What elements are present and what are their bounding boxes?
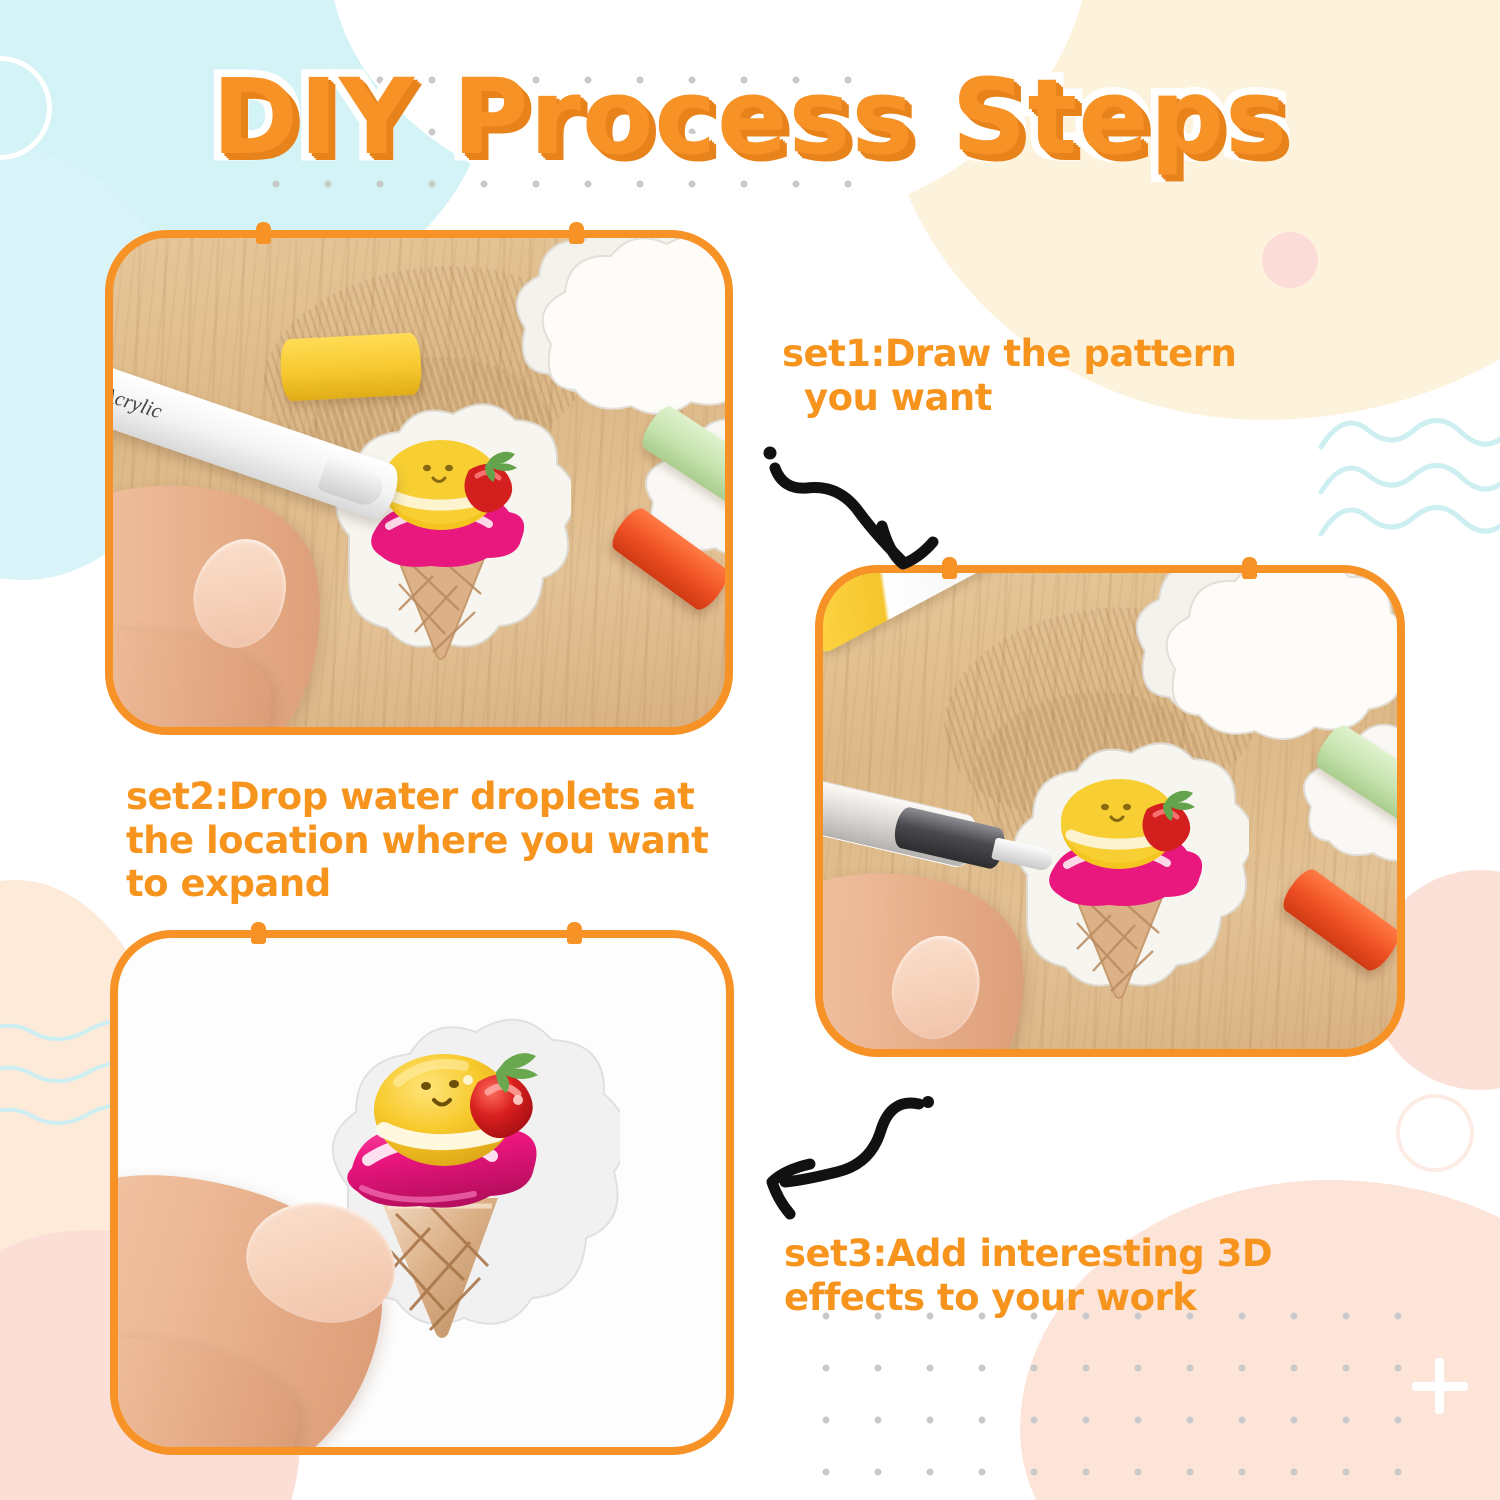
arrow-step2-to-step3-icon — [764, 1084, 969, 1224]
frame-pin-left-icon — [251, 922, 266, 944]
arrow-step1-to-step2-icon — [752, 434, 962, 599]
step-3-photo-frame — [110, 930, 734, 1455]
step-2-label-line1: set2:Drop water droplets at — [126, 775, 694, 818]
frame-pin-left-icon — [256, 222, 271, 244]
page-title: DIY Process Steps — [212, 56, 1288, 178]
acrylic-pen-tip-icon — [317, 455, 387, 509]
page-title-container: DIY Process Steps — [0, 56, 1500, 178]
step-1-photo: Acrylic — [113, 238, 725, 727]
pink-circle-outline-right — [1396, 1094, 1474, 1172]
step-2-label: set2:Drop water droplets at the location… — [126, 775, 796, 906]
water-brush-pen-nib-icon — [991, 837, 1054, 872]
step-3-label: set3:Add interesting 3D effects to your … — [784, 1232, 1344, 1319]
frame-pin-right-icon — [567, 922, 582, 944]
step-2-photo — [823, 573, 1397, 1049]
pink-circle-top-right — [1262, 232, 1318, 288]
step-2-photo-frame — [815, 565, 1405, 1057]
infographic-canvas: DIY Process Steps — [0, 0, 1500, 1500]
dot-grid-bottom — [800, 1290, 1420, 1500]
wave-lines-right-icon — [1316, 392, 1500, 562]
step-3-label-line1: set3:Add interesting 3D — [784, 1232, 1272, 1275]
step-3-label-line2: effects to your work — [784, 1276, 1196, 1319]
frame-pin-right-icon — [1242, 557, 1257, 579]
step-3-photo — [118, 938, 726, 1447]
frame-pin-right-icon — [569, 222, 584, 244]
step-1-label-line1: set1:Draw the pattern — [782, 332, 1236, 375]
step-2-label-line3: to expand — [126, 862, 331, 905]
yellow-marker — [279, 332, 422, 401]
step-1-label-line2: you want — [782, 376, 1302, 420]
step-1-photo-frame: Acrylic — [105, 230, 733, 735]
step-2-label-line2: the location where you want — [126, 819, 708, 862]
acrylic-pen-label: Acrylic — [113, 382, 165, 425]
step-1-label: set1:Draw the pattern you want — [782, 332, 1302, 419]
plus-icon — [1412, 1358, 1468, 1414]
